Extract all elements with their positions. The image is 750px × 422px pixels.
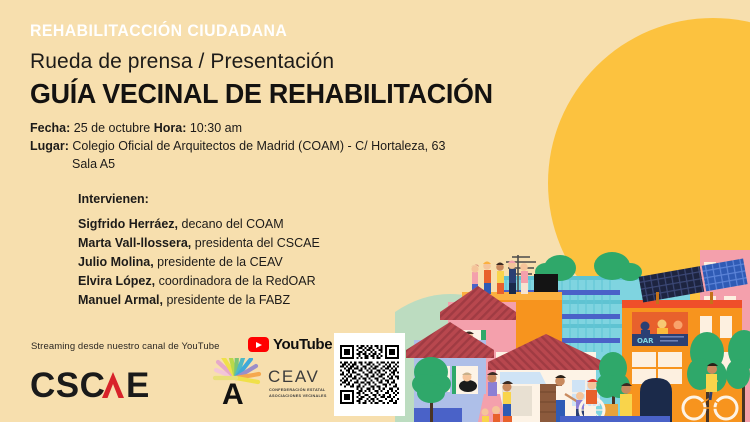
- speaker-role: presidente de la FABZ: [163, 293, 290, 307]
- poster-subtitle: Rueda de prensa / Presentación: [30, 50, 630, 74]
- event-venue-room: Sala A5: [30, 155, 630, 173]
- speakers-heading: Intervienen:: [78, 192, 320, 206]
- svg-text:ASOCIACIONES VECINALES: ASOCIACIONES VECINALES: [269, 394, 327, 398]
- ceav-word: CEAV: [268, 367, 319, 386]
- event-date-line: Fecha: 25 de octubre Hora: 10:30 am: [30, 119, 630, 137]
- page-title: GUÍA VECINAL DE REHABILITACIÓN: [30, 79, 606, 108]
- lugar-value: Colegio Oficial de Arquitectos de Madrid…: [72, 139, 445, 153]
- ceav-mark: A CEAV CONFEDERACIÓN ESTATAL ASOCIACIONE…: [206, 358, 346, 414]
- speaker-role: coordinadora de la RedOAR: [155, 274, 316, 288]
- ceav-logo[interactable]: A CEAV CONFEDERACIÓN ESTATAL ASOCIACIONE…: [206, 358, 346, 419]
- speaker-row: Julio Molina, presidente de la CEAV: [78, 253, 320, 272]
- speaker-role: decano del COAM: [178, 217, 284, 231]
- youtube-logo[interactable]: YouTube: [248, 336, 332, 353]
- qr-code-image: [340, 345, 399, 404]
- qr-code[interactable]: [334, 333, 405, 416]
- speaker-row: Marta Vall-llossera, presidenta del CSCA…: [78, 234, 320, 253]
- speaker-role: presidente de la CEAV: [154, 255, 283, 269]
- youtube-wordmark: YouTube: [273, 336, 332, 353]
- poster-text-block: REHABILITACCIÓN CIUDADANA Rueda de prens…: [30, 22, 630, 174]
- speaker-name: Manuel Armal,: [78, 293, 163, 307]
- speaker-row: Manuel Armal, presidente de la FABZ: [78, 291, 320, 310]
- speaker-name: Marta Vall-llossera,: [78, 236, 191, 250]
- svg-text:CSC: CSC: [30, 366, 105, 405]
- hora-value: 10:30 am: [190, 121, 242, 135]
- youtube-play-icon: [248, 337, 269, 352]
- svg-text:OAR: OAR: [637, 337, 654, 345]
- speaker-role: presidenta del CSCAE: [191, 236, 320, 250]
- poster-canvas: OAR: [0, 0, 750, 422]
- cscae-logo[interactable]: CSC E: [30, 366, 170, 406]
- speaker-name: Elvira López,: [78, 274, 155, 288]
- speaker-name: Julio Molina,: [78, 255, 154, 269]
- lugar-label: Lugar:: [30, 139, 69, 153]
- speaker-name: Sigfrido Herráez,: [78, 217, 178, 231]
- speaker-row: Elvira López, coordinadora de la RedOAR: [78, 272, 320, 291]
- fecha-label: Fecha:: [30, 121, 70, 135]
- hora-label: Hora:: [154, 121, 187, 135]
- fecha-value: 25 de octubre: [74, 121, 150, 135]
- poster-kicker: REHABILITACCIÓN CIUDADANA: [30, 22, 588, 41]
- cscae-wordmark: CSC E: [30, 366, 170, 406]
- streaming-note: Streaming desde nuestro canal de YouTube: [31, 341, 220, 352]
- speaker-row: Sigfrido Herráez, decano del COAM: [78, 215, 320, 234]
- ceav-letter-a: A: [222, 378, 244, 411]
- svg-text:E: E: [126, 366, 149, 405]
- speakers-block: Intervienen: Sigfrido Herráez, decano de…: [78, 192, 320, 310]
- event-details: Fecha: 25 de octubre Hora: 10:30 am Luga…: [30, 119, 630, 173]
- svg-text:CONFEDERACIÓN ESTATAL: CONFEDERACIÓN ESTATAL: [269, 387, 326, 392]
- event-venue-line: Lugar: Colegio Oficial de Arquitectos de…: [30, 137, 630, 155]
